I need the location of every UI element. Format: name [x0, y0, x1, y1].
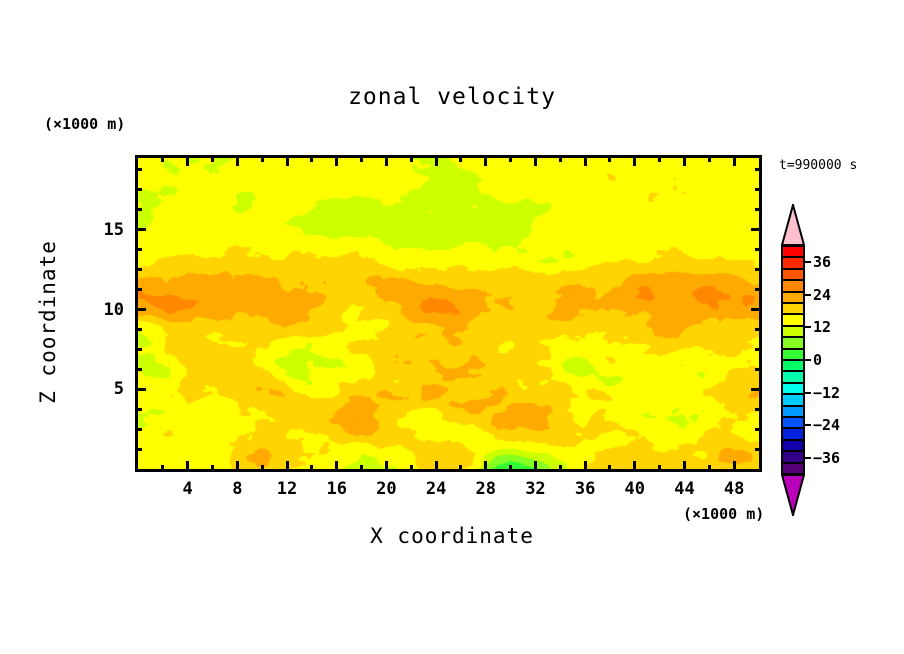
contour-plot-area [135, 155, 762, 472]
colorbar-tick-mark [805, 294, 811, 296]
timestamp-annotation: t=990000 s [779, 158, 857, 173]
y-axis-title: Z coordinate [36, 212, 60, 432]
colorbar-band-divider [781, 359, 805, 361]
x-axis-title: X coordinate [0, 524, 904, 548]
colorbar-tick-label: 24 [813, 286, 831, 304]
colorbar-tick-mark [805, 326, 811, 328]
x-tick-label: 32 [505, 479, 565, 499]
colorbar-tick-label: 36 [813, 253, 831, 271]
colorbar-band-divider [781, 393, 805, 395]
y-tick-label: 5 [64, 379, 124, 399]
colorbar-band-divider [781, 450, 805, 452]
colorbar-tick-label: −12 [813, 384, 840, 402]
x-axis-units-label: (×1000 m) [683, 505, 764, 523]
colorbar-band-divider [781, 325, 805, 327]
colorbar-band-divider [781, 336, 805, 338]
x-tick-label: 4 [158, 479, 218, 499]
colorbar-band-divider [781, 256, 805, 258]
colorbar-band-divider [781, 348, 805, 350]
colorbar-over-arrow [781, 204, 805, 246]
colorbar-band-divider [781, 382, 805, 384]
x-tick-label: 48 [704, 479, 764, 499]
x-tick-label: 28 [456, 479, 516, 499]
x-tick-label: 12 [257, 479, 317, 499]
x-tick-label: 36 [555, 479, 615, 499]
x-tick-label: 44 [654, 479, 714, 499]
colorbar-under-arrow [781, 474, 805, 516]
colorbar-band-divider [781, 462, 805, 464]
colorbar-tick-label: 12 [813, 318, 831, 336]
colorbar-tick-label: 0 [813, 351, 822, 369]
colorbar [781, 246, 805, 474]
colorbar-tick-mark [805, 261, 811, 263]
colorbar-tick-mark [805, 424, 811, 426]
colorbar-band-divider [781, 439, 805, 441]
colorbar-band-divider [781, 302, 805, 304]
colorbar-band-divider [781, 291, 805, 293]
colorbar-band-divider [781, 268, 805, 270]
colorbar-band-divider [781, 245, 805, 247]
y-tick-label: 10 [64, 300, 124, 320]
velocity-field-canvas [138, 158, 762, 472]
x-tick-label: 40 [605, 479, 665, 499]
y-axis-units-label: (×1000 m) [44, 115, 125, 133]
colorbar-band-divider [781, 313, 805, 315]
x-tick-label: 8 [207, 479, 267, 499]
colorbar-band-divider [781, 416, 805, 418]
colorbar-band-divider [781, 370, 805, 372]
colorbar-band-divider [781, 405, 805, 407]
x-tick-label: 20 [356, 479, 416, 499]
colorbar-band-divider [781, 427, 805, 429]
colorbar-tick-mark [805, 359, 811, 361]
x-tick-label: 16 [307, 479, 367, 499]
x-tick-label: 24 [406, 479, 466, 499]
y-tick-label: 15 [64, 220, 124, 240]
colorbar-tick-mark [805, 392, 811, 394]
page-title: zonal velocity [0, 84, 904, 110]
colorbar-tick-label: −36 [813, 449, 840, 467]
colorbar-tick-label: −24 [813, 416, 840, 434]
colorbar-band-divider [781, 279, 805, 281]
colorbar-tick-mark [805, 457, 811, 459]
